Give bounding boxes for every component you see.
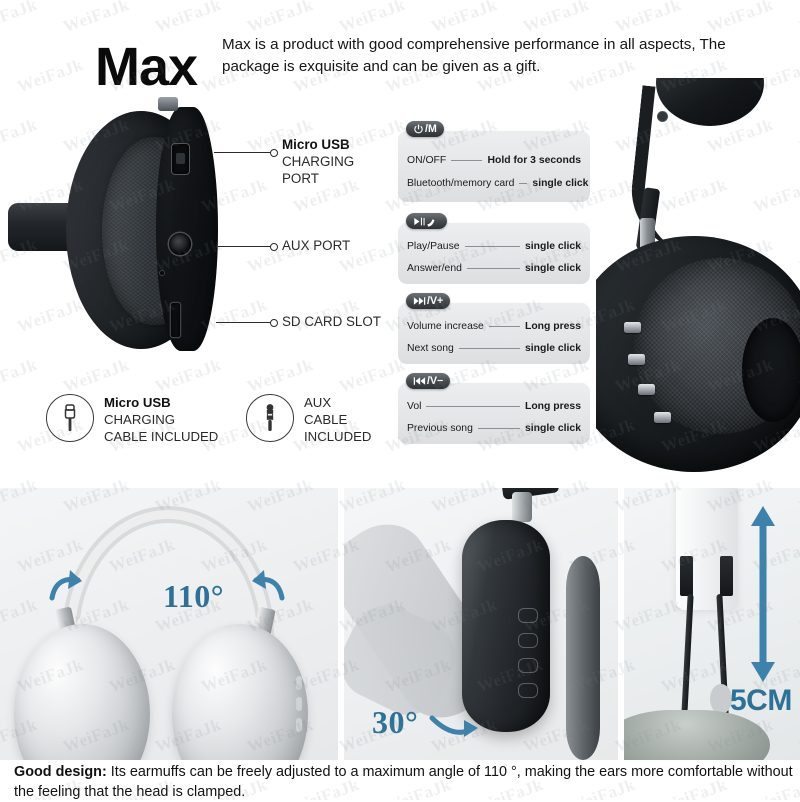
clip-left bbox=[680, 556, 693, 596]
control-action: Play/Pause bbox=[407, 241, 460, 252]
callout-micro-usb-charging-port: Micro USB CHARGING PORT bbox=[282, 137, 354, 188]
dash bbox=[489, 326, 520, 327]
micro-usb-port bbox=[171, 143, 190, 175]
control-gesture: single click bbox=[525, 343, 581, 354]
rotation-arrow-bottom-icon bbox=[428, 712, 482, 742]
control-panel-power: /M ON/OFF Hold for 3 seconds Bluetooth/m… bbox=[398, 130, 590, 202]
control-gesture: Long press bbox=[525, 321, 581, 332]
dash bbox=[459, 348, 520, 349]
rotation-arrow-left-icon bbox=[48, 568, 96, 608]
micro-usb-cable-icon bbox=[47, 395, 93, 441]
earcup-front-edge bbox=[566, 556, 600, 760]
dash bbox=[519, 183, 527, 184]
feature-panel-5cm: 5CM bbox=[624, 488, 800, 760]
control-action: Previous song bbox=[407, 423, 473, 434]
footer: Good design: Its earmuffs can be freely … bbox=[0, 760, 800, 800]
side-buttons bbox=[518, 608, 538, 708]
footer-body: Its earmuffs can be freely adjusted to a… bbox=[14, 764, 793, 800]
accessory-aux-cable: AUX CABLE INCLUDED bbox=[246, 394, 396, 444]
angle-label-30: 30° bbox=[372, 704, 418, 741]
dash bbox=[426, 406, 520, 407]
product-photo-ports bbox=[8, 95, 258, 365]
leader-line-sd bbox=[216, 322, 272, 323]
badge-previous-track: /V− bbox=[406, 373, 450, 389]
accessory-line-1: CHARGING bbox=[104, 412, 175, 427]
badge-label: /M bbox=[425, 121, 437, 137]
earcup-left bbox=[14, 624, 150, 760]
earcup-right bbox=[172, 624, 308, 760]
control-row: Previous song single click bbox=[407, 420, 581, 437]
leader-dot-aux bbox=[270, 243, 278, 251]
leader-line-usb bbox=[214, 152, 272, 153]
footer-caption: Good design: Its earmuffs can be freely … bbox=[14, 763, 794, 802]
side-button-3 bbox=[638, 384, 655, 395]
dash bbox=[467, 268, 520, 269]
callout-bold: Micro USB bbox=[282, 137, 350, 152]
aux-cable-jack-icon bbox=[247, 395, 293, 441]
product-photo-black-headphone bbox=[596, 78, 800, 482]
control-instructions: /M ON/OFF Hold for 3 seconds Bluetooth/m… bbox=[398, 120, 598, 452]
headband-pad-tip bbox=[710, 684, 732, 714]
accessory-line-1: AUX bbox=[304, 395, 331, 410]
accessory-line-3: INCLUDED bbox=[304, 429, 371, 444]
side-buttons bbox=[296, 676, 302, 739]
sd-card-slot bbox=[171, 303, 180, 337]
dimension-label-5cm: 5CM bbox=[730, 684, 792, 718]
control-row: ON/OFF Hold for 3 seconds bbox=[407, 152, 581, 169]
clip-right bbox=[720, 556, 733, 596]
side-button-4 bbox=[654, 412, 671, 423]
callout-aux-port: AUX PORT bbox=[282, 238, 350, 255]
earcup bbox=[596, 236, 800, 472]
accessory-circle bbox=[246, 394, 294, 442]
accessory-bold: Micro USB bbox=[104, 395, 171, 410]
badge-play-phone bbox=[406, 213, 447, 229]
play-pause-phone-icon bbox=[413, 216, 439, 227]
side-button-1 bbox=[624, 322, 641, 333]
hinge bbox=[158, 97, 178, 111]
page-title: Max bbox=[95, 40, 197, 94]
footer-bold: Good design: bbox=[14, 764, 107, 780]
metal-hinge bbox=[512, 492, 532, 522]
callout-sd-card-slot: SD CARD SLOT bbox=[282, 314, 381, 331]
control-gesture: Hold for 3 seconds bbox=[487, 155, 581, 166]
control-action: Volume increase bbox=[407, 321, 484, 332]
control-panel-next: /V+ Volume increase Long press Next song… bbox=[398, 302, 590, 364]
rotation-arrow-right-icon bbox=[238, 568, 286, 608]
control-gesture: single click bbox=[525, 263, 581, 274]
control-row: Play/Pause single click bbox=[407, 238, 581, 255]
callout-line-1: SD CARD SLOT bbox=[282, 314, 381, 329]
control-gesture: single click bbox=[525, 423, 581, 434]
leader-line-aux bbox=[218, 246, 272, 247]
dash bbox=[451, 160, 482, 161]
callout-line-1: AUX PORT bbox=[282, 238, 350, 253]
badge-power: /M bbox=[406, 121, 444, 137]
control-action: Bluetooth/memory card bbox=[407, 178, 514, 189]
accessory-line-2: CABLE INCLUDED bbox=[104, 429, 218, 444]
accessory-text: AUX CABLE INCLUDED bbox=[304, 394, 371, 445]
control-gesture: single click bbox=[525, 241, 581, 252]
bottom-section: 110° 30° 5CM bbox=[0, 488, 800, 760]
control-row: Volume increase Long press bbox=[407, 318, 581, 335]
feature-panel-30-degrees: 30° bbox=[344, 488, 618, 760]
aux-port bbox=[169, 233, 191, 255]
dimension-arrow-vertical-icon bbox=[750, 504, 776, 684]
badge-next-track: /V+ bbox=[406, 293, 450, 309]
badge-label: /V− bbox=[427, 373, 443, 389]
leader-dot-sd bbox=[270, 319, 278, 327]
control-action: Next song bbox=[407, 343, 454, 354]
accessory-text: Micro USB CHARGING CABLE INCLUDED bbox=[104, 394, 218, 445]
control-row: Bluetooth/memory card single click bbox=[407, 175, 581, 192]
headband-arm bbox=[626, 85, 703, 250]
callout-line-1: CHARGING bbox=[282, 154, 354, 169]
control-gesture: single click bbox=[532, 178, 588, 189]
side-button-2 bbox=[628, 354, 645, 365]
accessory-circle bbox=[46, 394, 94, 442]
accessory-micro-usb-cable: Micro USB CHARGING CABLE INCLUDED bbox=[46, 394, 226, 444]
leader-dot-usb bbox=[270, 149, 278, 157]
feature-panel-110-degrees: 110° bbox=[0, 488, 338, 760]
control-row: Vol Long press bbox=[407, 398, 581, 415]
control-action: ON/OFF bbox=[407, 155, 446, 166]
previous-track-icon bbox=[413, 376, 426, 386]
control-panel-previous: /V− Vol Long press Previous song single … bbox=[398, 382, 590, 444]
header: Max Max is a product with good comprehen… bbox=[0, 20, 800, 82]
control-panel-play: Play/Pause single click Answer/end singl… bbox=[398, 222, 590, 284]
control-action: Vol bbox=[407, 401, 421, 412]
dash bbox=[465, 246, 520, 247]
accessory-line-2: CABLE bbox=[304, 412, 347, 427]
next-track-icon bbox=[413, 296, 426, 306]
top-section: Max Max is a product with good comprehen… bbox=[0, 0, 800, 488]
control-gesture: Long press bbox=[525, 401, 581, 412]
callout-line-2: PORT bbox=[282, 171, 319, 186]
control-row: Answer/end single click bbox=[407, 260, 581, 277]
power-icon bbox=[413, 124, 424, 135]
earpad-mesh bbox=[634, 258, 800, 434]
earpad-opening bbox=[742, 318, 800, 422]
control-action: Answer/end bbox=[407, 263, 462, 274]
badge-label: /V+ bbox=[427, 293, 443, 309]
header-description: Max is a product with good comprehensive… bbox=[222, 34, 782, 77]
control-row: Next song single click bbox=[407, 340, 581, 357]
dash bbox=[478, 428, 520, 429]
microphone-hole bbox=[160, 271, 164, 275]
angle-label-110: 110° bbox=[163, 578, 224, 615]
